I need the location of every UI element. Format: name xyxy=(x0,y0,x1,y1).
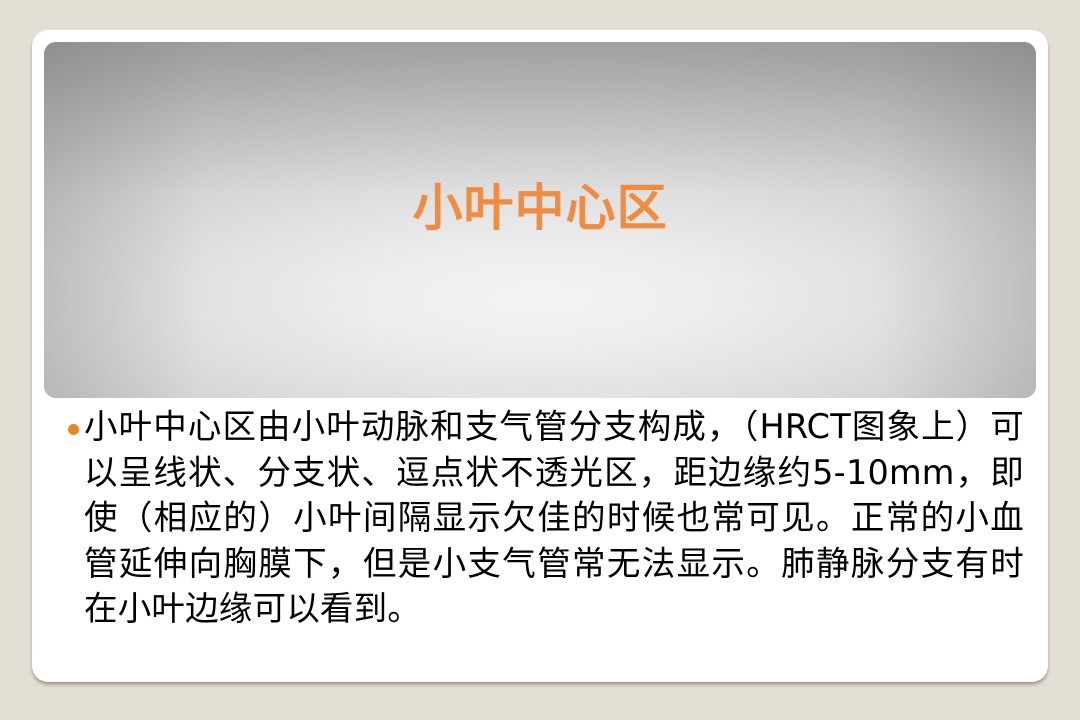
list-item: 小叶中心区由小叶动脉和支气管分支构成，（HRCT图象上）可以呈线状、分支状、逗点… xyxy=(44,404,1036,632)
title-panel: 小叶中心区 xyxy=(44,42,1036,398)
title-panel-top-shading xyxy=(44,42,1036,192)
slide-body: 小叶中心区由小叶动脉和支气管分支构成，（HRCT图象上）可以呈线状、分支状、逗点… xyxy=(44,404,1036,670)
bullet-text: 小叶中心区由小叶动脉和支气管分支构成，（HRCT图象上）可以呈线状、分支状、逗点… xyxy=(84,404,1036,632)
slide-card: 小叶中心区 小叶中心区由小叶动脉和支气管分支构成，（HRCT图象上）可以呈线状、… xyxy=(32,30,1048,682)
slide-title: 小叶中心区 xyxy=(44,180,1036,236)
bullet-dot-icon xyxy=(68,424,79,435)
slide-canvas: 小叶中心区 小叶中心区由小叶动脉和支气管分支构成，（HRCT图象上）可以呈线状、… xyxy=(0,0,1080,720)
